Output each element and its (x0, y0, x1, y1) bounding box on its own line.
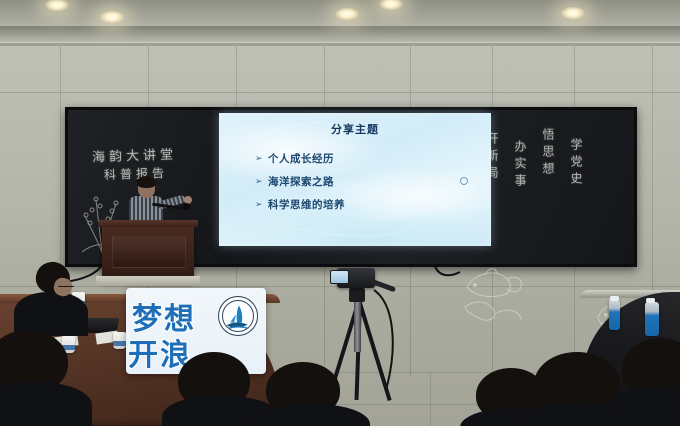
slide-bullet-1-text: 个人成长经历 (268, 151, 334, 166)
slide-bullet-2-text: 海洋探索之路 (268, 174, 334, 189)
recessed-downlight (99, 10, 125, 24)
audience-member-head (622, 338, 680, 426)
microphone-head (183, 203, 190, 210)
chalk-column-4: 学党史 (568, 138, 585, 189)
recessed-downlight (334, 7, 360, 21)
ceiling-beam (0, 26, 680, 42)
shoulders (250, 404, 370, 426)
blue-water-bottle (609, 300, 620, 330)
audience-member-head (262, 362, 354, 426)
slide-bullet-2: ➢ 海洋探索之路 (255, 174, 345, 189)
shoulders (0, 382, 92, 426)
chalk-heading-line1: 海韵大讲堂 (92, 144, 178, 166)
eyeglasses (58, 286, 74, 291)
wall-seam (0, 92, 680, 93)
blue-water-bottle (645, 302, 659, 336)
wooden-lectern (102, 224, 194, 282)
bullet-arrow-icon: ➢ (255, 154, 263, 164)
lectern-front-panel (112, 236, 186, 268)
bullet-arrow-icon: ➢ (255, 177, 263, 187)
slide-bullet-3: ➢ 科学思维的培养 (255, 197, 345, 212)
flip-out-lcd-screen (330, 270, 349, 284)
tripod-center-column (354, 300, 361, 352)
ceiling-trim (0, 43, 680, 46)
slide-bullet-1: ➢ 个人成长经历 (255, 151, 345, 166)
logo-artwork (219, 297, 257, 335)
audience-member-head (0, 330, 84, 426)
hanging-av-cable (430, 262, 480, 292)
lectern-base (96, 276, 200, 286)
presenter-hair (137, 176, 156, 188)
bullet-arrow-icon: ➢ (255, 200, 263, 210)
slide-bullet-list: ➢ 个人成长经历 ➢ 海洋探索之路 ➢ 科学思维的培养 (255, 151, 345, 220)
tripod-head (349, 288, 365, 302)
lecture-hall-screenshot: 海韵大讲堂 科普报告 开新局 办实事 悟思想 学党史 (0, 0, 680, 426)
seated-attendee-with-glasses (14, 262, 92, 332)
paper-cup (113, 332, 126, 349)
chalk-column-2: 办实事 (512, 140, 529, 191)
slide-title: 分享主题 (219, 121, 491, 137)
chalk-column-3: 悟思想 (540, 128, 557, 179)
lectern-top (98, 220, 198, 227)
floor-seam (430, 372, 431, 426)
slide-bullet-3-text: 科学思维的培养 (268, 197, 345, 212)
projection-screen: 分享主题 ➢ 个人成长经历 ➢ 海洋探索之路 ➢ 科学思维的培养 (219, 113, 491, 246)
bottle-cap (610, 296, 619, 301)
bottle-cap (646, 298, 655, 303)
recessed-downlight (560, 6, 586, 20)
sailboat-wave-emblem (218, 296, 258, 336)
laser-pointer-ring (460, 177, 468, 185)
camera-power-cable (372, 286, 412, 396)
